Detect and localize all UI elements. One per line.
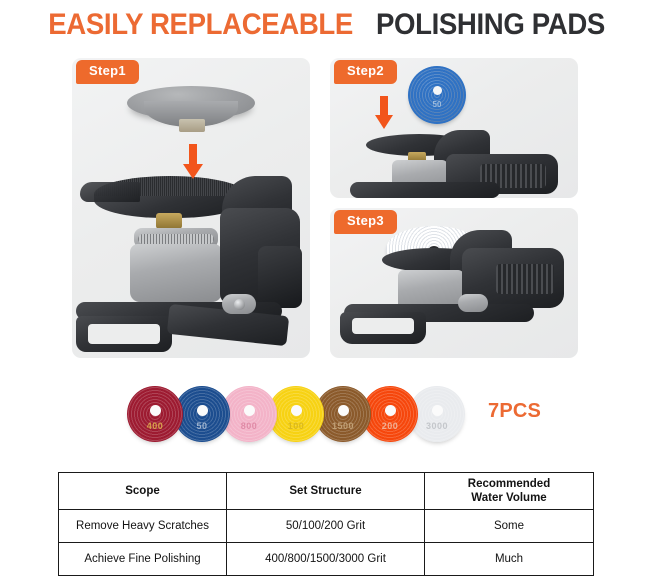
pad-center-hole — [291, 405, 302, 416]
pad-center-hole — [432, 405, 443, 416]
gray-backing-pad — [127, 86, 255, 136]
header-set-structure: Set Structure — [227, 473, 425, 510]
step-panel-1 — [72, 58, 310, 358]
down-arrow-icon — [374, 96, 394, 130]
header-water-line1: Recommended — [468, 478, 550, 490]
page-title: EASILY REPLACEABLE POLISHING PADS — [0, 8, 650, 42]
pad-center-hole — [197, 405, 208, 416]
table-header-row: Scope Set Structure Recommended Water Vo… — [59, 473, 594, 510]
pad-center-hole — [150, 405, 161, 416]
cell-scope: Remove Heavy Scratches — [59, 510, 227, 543]
pivot-bolt-icon — [234, 299, 245, 310]
knurled-ring — [138, 234, 214, 244]
step-badge-1: Step1 — [76, 60, 139, 84]
blue-pad-grit-label: 50 — [408, 100, 466, 109]
spec-table: Scope Set Structure Recommended Water Vo… — [58, 472, 594, 576]
down-arrow-icon — [182, 144, 204, 180]
page-title-rest: POLISHING PADS — [376, 8, 605, 42]
pivot-bolt-block — [458, 294, 488, 312]
step-badge-3: Step3 — [334, 210, 397, 234]
polishing-pad-400: 400 — [127, 386, 183, 442]
pad-center-hole — [338, 405, 349, 416]
header-water-line2: Water Volume — [471, 492, 546, 504]
guard-left-lip — [80, 182, 140, 202]
cell-scope: Achieve Fine Polishing — [59, 543, 227, 576]
gear-housing — [130, 244, 222, 302]
cell-set-structure: 400/800/1500/3000 Grit — [227, 543, 425, 576]
cell-set-structure: 50/100/200 Grit — [227, 510, 425, 543]
table-row: Achieve Fine Polishing400/800/1500/3000 … — [59, 543, 594, 576]
brass-spindle-nut — [156, 213, 182, 229]
pad-center-hole — [244, 405, 255, 416]
header-scope: Scope — [59, 473, 227, 510]
grip-panel — [258, 246, 302, 308]
blue-polishing-pad: 50 — [408, 66, 466, 124]
page-title-highlight: EASILY REPLACEABLE — [48, 8, 353, 42]
step-badge-2: Step2 — [334, 60, 397, 84]
cell-water-volume: Some — [425, 510, 594, 543]
pad-count-label: 7PCS — [488, 400, 541, 423]
motor-vents — [496, 264, 554, 294]
pad-grit-label: 400 — [127, 421, 183, 431]
cell-water-volume: Much — [425, 543, 594, 576]
header-recommended-water-volume: Recommended Water Volume — [425, 473, 594, 510]
handle-bar — [350, 182, 500, 198]
infographic-root: EASILY REPLACEABLE POLISHING PADS — [0, 0, 650, 581]
table-row: Remove Heavy Scratches50/100/200 GritSom… — [59, 510, 594, 543]
handle-loop-hole — [352, 318, 414, 334]
handle-loop-hole — [88, 324, 160, 344]
pad-center-hole — [385, 405, 396, 416]
